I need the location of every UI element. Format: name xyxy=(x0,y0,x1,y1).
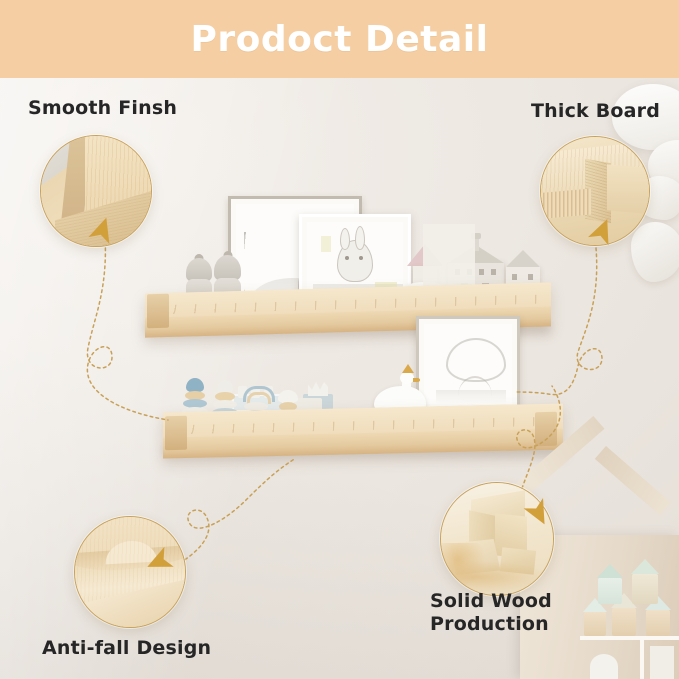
product-detail-image: Smooth Finsh Thick Board Anti-fall Desig… xyxy=(0,0,679,679)
header-banner: Prodoct Detail xyxy=(0,0,679,78)
dollhouse-shelf-divider xyxy=(580,636,679,640)
dollhouse-lower-item xyxy=(650,646,674,679)
callout-bubble-anti-fall-design xyxy=(74,516,186,628)
dollhouse-roof-right xyxy=(595,446,671,515)
dollhouse-lower-item xyxy=(590,654,618,679)
smooth-finish-photo xyxy=(41,136,151,246)
callout-label-thick-board: Thick Board xyxy=(531,100,660,123)
callout-label-anti-fall-design: Anti-fall Design xyxy=(42,637,211,660)
moon-art-print xyxy=(416,316,520,412)
callout-bubble-solid-wood-production xyxy=(440,482,554,596)
lower-shelf xyxy=(163,408,563,454)
solid-wood-photo xyxy=(441,483,553,595)
callout-bubble-smooth-finish xyxy=(40,135,152,247)
swan-crown xyxy=(402,364,414,373)
callout-label-solid-wood-production: Solid Wood Production xyxy=(430,590,552,636)
pastel-block-house xyxy=(612,608,636,636)
lower-shelf-bracket-right xyxy=(535,412,557,446)
thick-board-photo xyxy=(541,137,649,245)
callout-label-smooth-finish: Smooth Finsh xyxy=(28,97,177,120)
pastel-block-house xyxy=(598,578,622,604)
swan-beak xyxy=(413,378,420,382)
dollhouse-shelf-divider xyxy=(640,636,644,679)
callout-bubble-thick-board xyxy=(540,136,650,246)
page-title: Prodoct Detail xyxy=(191,19,489,60)
swan-head xyxy=(400,372,414,384)
pastel-block-house xyxy=(646,610,670,636)
lower-shelf-bracket-left xyxy=(165,416,187,450)
upper-shelf-bracket-left xyxy=(147,294,169,329)
pastel-block-house xyxy=(584,612,606,636)
pastel-block-house xyxy=(632,574,658,604)
backdrop-card-upper xyxy=(423,224,475,286)
anti-fall-photo xyxy=(75,517,185,627)
lower-shelf-board xyxy=(163,403,563,458)
